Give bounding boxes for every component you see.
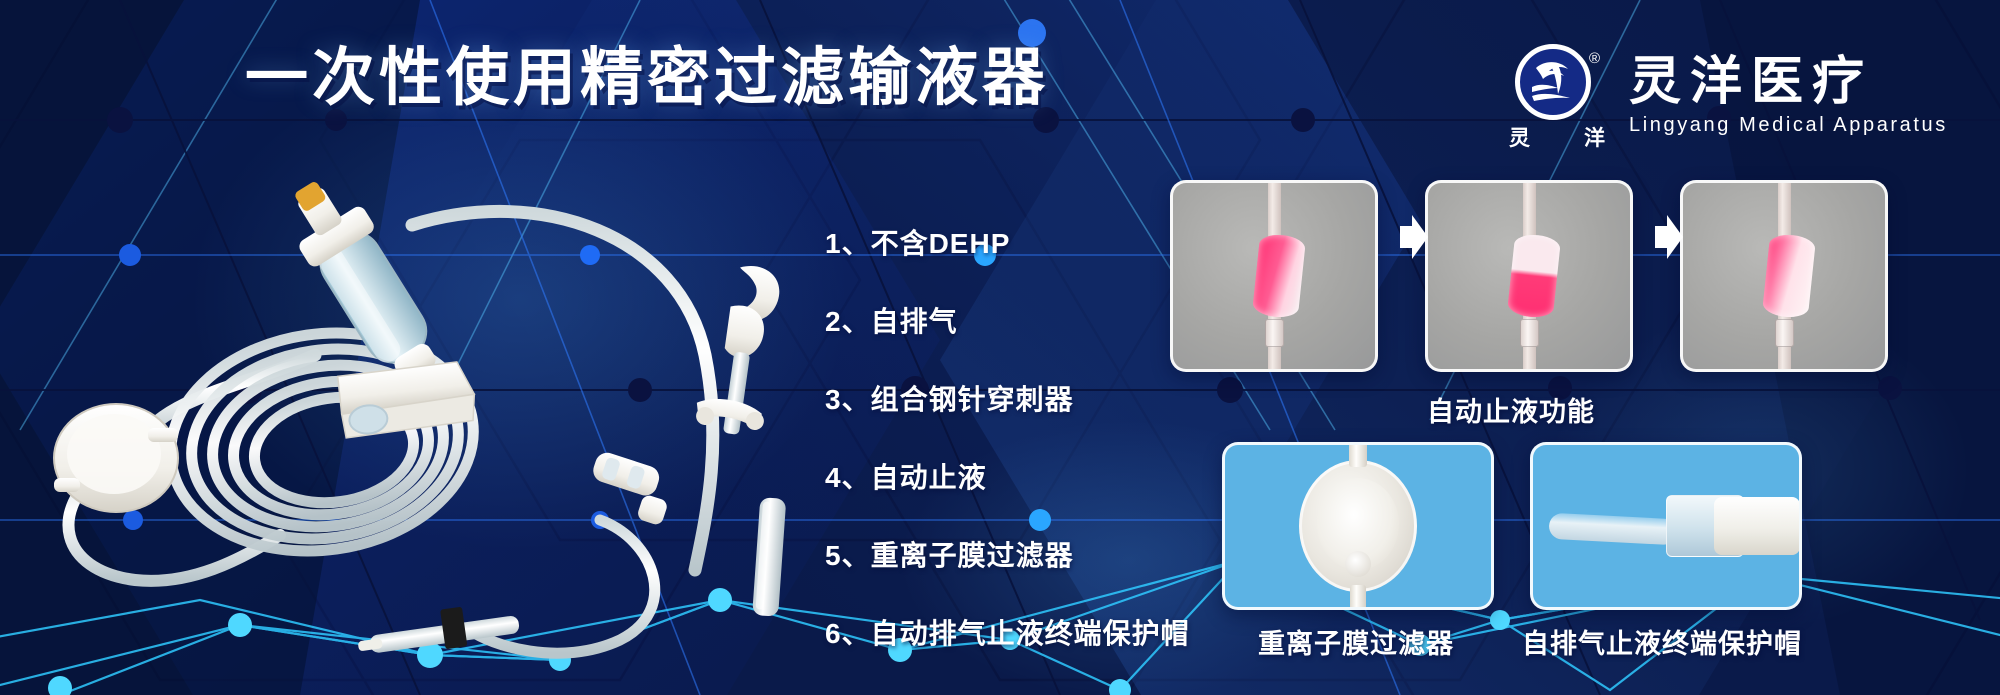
- tube-connector: [1520, 319, 1539, 347]
- photo-drip-chamber-full: [1170, 180, 1378, 372]
- feature-list: 1、不含DEHP 2、自排气 3、组合钢针穿刺器 4、自动止液 5、重离子膜过滤…: [825, 222, 1190, 690]
- feature-item-3: 3、组合钢针穿刺器: [825, 378, 1190, 418]
- feature-item-5: 5、重离子膜过滤器: [825, 534, 1190, 574]
- logo-char-right: 洋: [1584, 122, 1605, 152]
- brand-logo: ® 灵 洋 灵洋医疗 Lingyang Medical Apparatus: [1505, 44, 1948, 148]
- cap-tube-icon: [1548, 513, 1677, 546]
- caption-heavy-ion-membrane-filter: 重离子膜过滤器: [1258, 622, 1454, 661]
- sequence-caption: 自动止液功能: [1427, 390, 1595, 429]
- photo-drip-chamber-empty: [1680, 180, 1888, 372]
- brand-name-cn: 灵洋医疗: [1629, 55, 1948, 110]
- drip-chamber-empty-icon: [1762, 233, 1816, 319]
- photo-self-venting-terminal-cap: [1530, 442, 1802, 610]
- lingyang-circular-logo-icon: ® 灵 洋: [1505, 44, 1609, 148]
- feature-item-2: 2、自排气: [825, 300, 1190, 340]
- drip-chamber-half-icon: [1507, 233, 1561, 319]
- photo-drip-chamber-half: [1425, 180, 1633, 372]
- photo-heavy-ion-membrane-filter: [1222, 442, 1494, 610]
- feature-item-6: 6、自动排气止液终端保护帽: [825, 612, 1190, 652]
- cap-white-icon: [1714, 497, 1800, 555]
- filter-body-icon: [1299, 460, 1417, 592]
- product-banner: 一次性使用精密过滤输液器 ® 灵 洋 灵洋医疗 Lingyang Medical…: [0, 0, 2000, 695]
- feature-item-4: 4、自动止液: [825, 456, 1190, 496]
- drip-chamber-full-icon: [1252, 233, 1306, 319]
- page-title: 一次性使用精密过滤输液器: [245, 47, 1049, 110]
- main-product-image: [40, 140, 800, 670]
- tube-connector: [1775, 319, 1794, 347]
- registered-mark: ®: [1589, 50, 1600, 67]
- brand-name-en: Lingyang Medical Apparatus: [1629, 114, 1948, 137]
- feature-item-1: 1、不含DEHP: [825, 222, 1190, 262]
- tube-connector: [1265, 319, 1284, 347]
- logo-char-left: 灵: [1509, 122, 1530, 152]
- caption-self-venting-terminal-cap: 自排气止液终端保护帽: [1522, 622, 1802, 661]
